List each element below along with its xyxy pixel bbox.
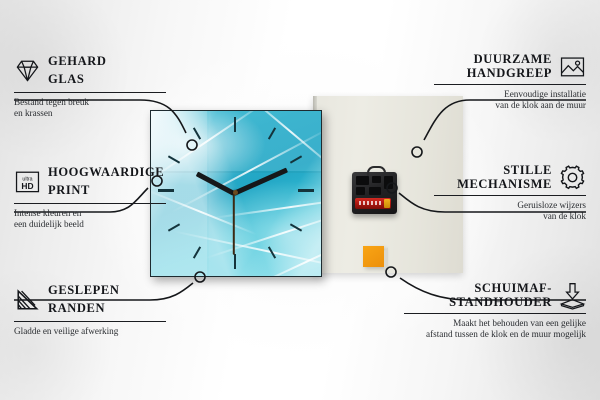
feature-header: GESLEPEN RANDEN [14,281,166,317]
divider [404,313,586,314]
divider [14,92,166,93]
press-down-pad-icon [559,282,586,309]
feature-title-line1: STILLE [503,163,552,177]
mechanism-battery [355,198,391,209]
feature-title: STILLE MECHANISME [457,163,552,191]
feature-description: Bestand tegen breuk en krassen [14,97,166,120]
feature-title-line2: MECHANISME [457,177,552,191]
feature-title: GEHARD GLAS [48,52,106,88]
feature-header: SCHUIMAF- STANDHOUDER [404,281,586,309]
feature-title-line1: GEHARD [48,54,106,68]
beveled-edge-icon [14,286,41,313]
clock-mechanism [352,172,397,214]
svg-text:HD: HD [21,181,33,191]
feature-schuimafstandhouder[interactable]: SCHUIMAF- STANDHOUDER Maakt het behouden… [404,281,586,341]
feature-title-line1: HOOGWAARDIGE [48,165,164,179]
feature-hoogwaardige-print[interactable]: ultra HD HOOGWAARDIGE PRINT Intense kleu… [14,163,166,231]
feature-title: SCHUIMAF- STANDHOUDER [449,281,552,309]
feature-duurzame-handgreep[interactable]: DUURZAME HANDGREEP Eenvoudige installati… [434,52,586,112]
diamond-icon [14,57,41,84]
product-feature-infographic: GEHARD GLAS Bestand tegen breuk en krass… [0,0,600,400]
feature-description: Eenvoudige installatie van de klok aan d… [434,89,586,112]
feature-title-line1: GESLEPEN [48,283,120,297]
feature-header: DUURZAME HANDGREEP [434,52,586,80]
feature-description: Gladde en veilige afwerking [14,326,166,337]
feature-title-line2: HANDGREEP [467,66,552,80]
feature-header: GEHARD GLAS [14,52,166,88]
feature-header: ultra HD HOOGWAARDIGE PRINT [14,163,166,199]
feature-geslepen-randen[interactable]: GESLEPEN RANDEN Gladde en veilige afwerk… [14,281,166,337]
divider [434,84,586,85]
clock-center-pin [233,190,238,195]
feature-title-line2: STANDHOUDER [449,295,552,309]
divider [14,203,166,204]
feature-stille-mechanisme[interactable]: STILLE MECHANISME Geruisloze wijzers van… [434,163,586,223]
ultra-hd-icon: ultra HD [14,168,41,195]
feature-title: DUURZAME HANDGREEP [467,52,552,80]
feature-header: STILLE MECHANISME [434,163,586,191]
gear-icon [559,164,586,191]
feature-title-line1: DUURZAME [474,52,552,66]
feature-title-line1: SCHUIMAF- [474,281,552,295]
divider [14,321,166,322]
feature-title-line2: GLAS [48,72,84,86]
feature-title: GESLEPEN RANDEN [48,281,120,317]
feature-description: Maakt het behouden van een gelijke afsta… [404,318,586,341]
divider [434,195,586,196]
foam-spacer [363,246,384,267]
feature-title: HOOGWAARDIGE PRINT [48,163,164,199]
feature-title-line2: PRINT [48,183,90,197]
feature-gehard-glas[interactable]: GEHARD GLAS Bestand tegen breuk en krass… [14,52,166,120]
feature-description: Intense kleuren en een duidelijk beeld [14,208,166,231]
framed-picture-icon [559,53,586,80]
feature-description: Geruisloze wijzers van de klok [434,200,586,223]
feature-title-line2: RANDEN [48,301,105,315]
